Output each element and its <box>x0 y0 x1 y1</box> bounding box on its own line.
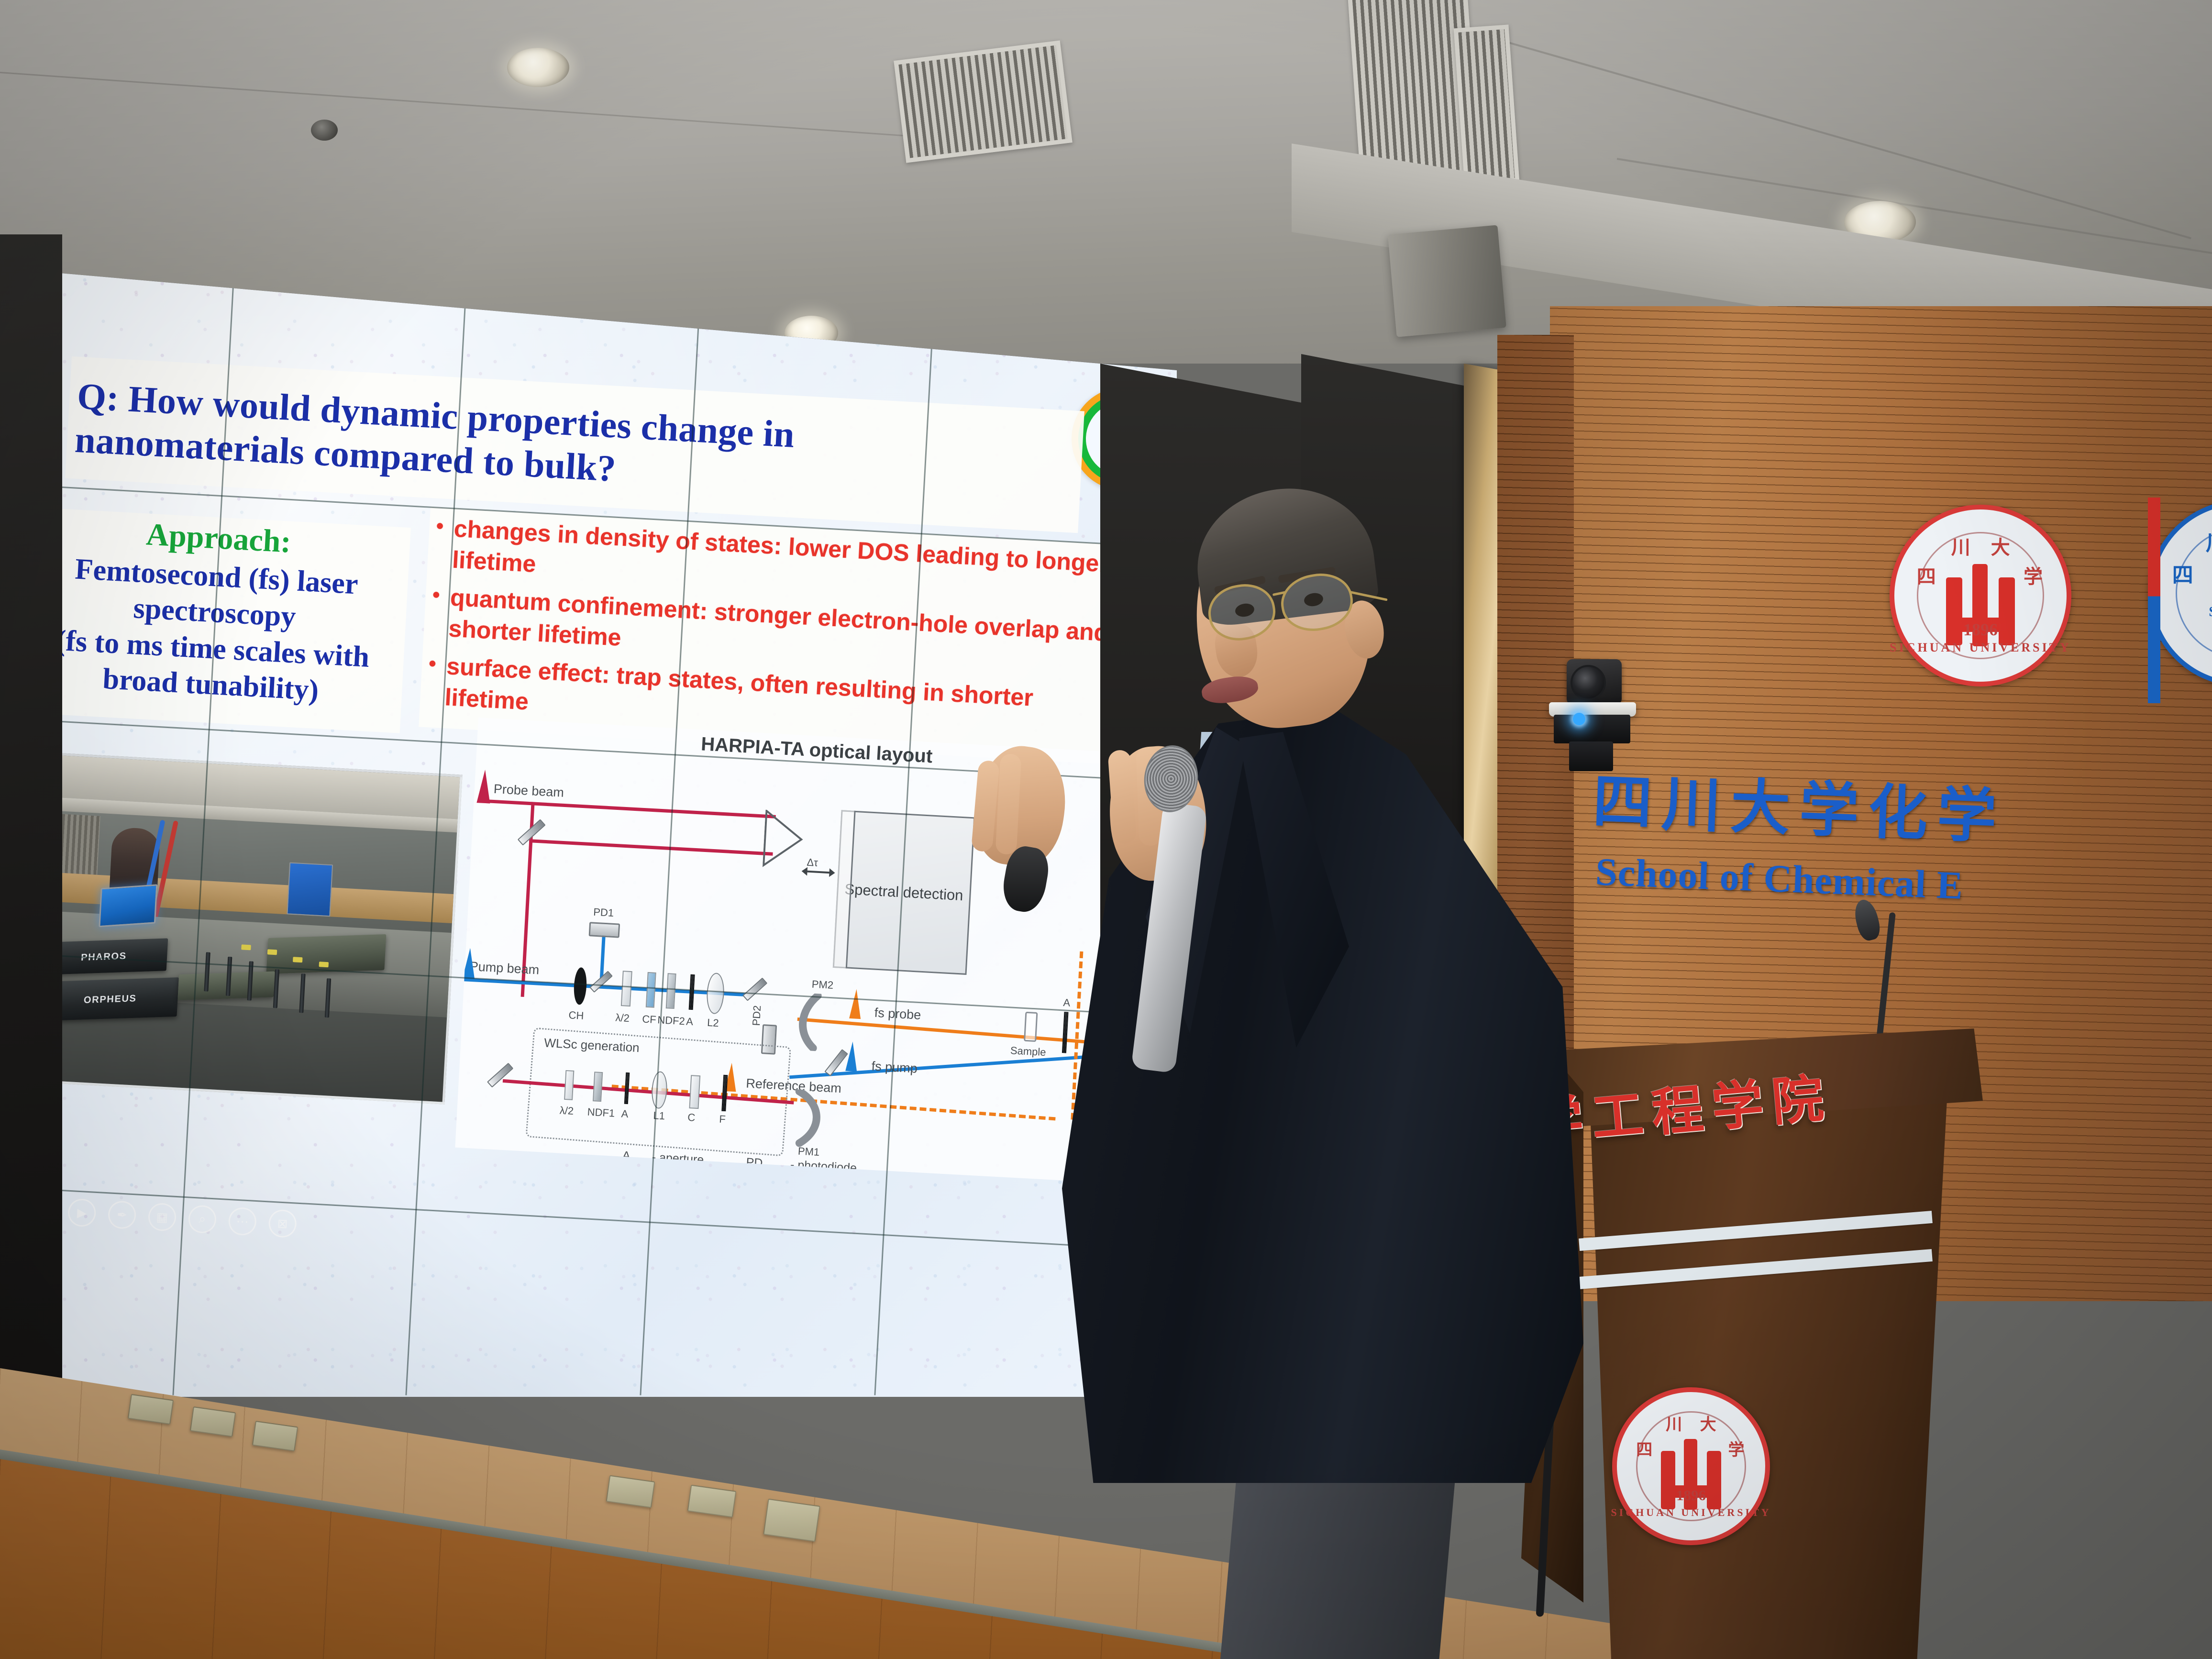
bullet-marker: • <box>431 581 441 610</box>
podium-seal-glyph-da: 大 <box>1700 1411 1716 1435</box>
seal-name-en: SICHUAN UNIVERSITY <box>1890 641 2071 655</box>
pm1-label: PM1 <box>797 1145 820 1158</box>
fs-probe-label: fs probe <box>874 1006 921 1023</box>
wall-divider-strip <box>2148 498 2160 703</box>
pump-fold-mirror-2 <box>742 977 767 1001</box>
pen-tool-icon[interactable]: ✒ <box>108 1200 137 1229</box>
sample-cuvette <box>1024 1012 1038 1042</box>
pd2-label: PD2 <box>750 1005 763 1026</box>
pm2-parabolic-mirror <box>793 993 829 1052</box>
halfwave-plate <box>621 971 632 1006</box>
cf-label: CF <box>642 1013 657 1026</box>
bullet-marker: • <box>428 650 437 678</box>
probe-beam-line <box>479 799 775 818</box>
floor-outlet <box>763 1499 820 1542</box>
fs-pump-label: fs pump <box>871 1059 918 1076</box>
seal-glyph-da: 大 <box>1991 532 2010 560</box>
next-slide-icon[interactable]: ▶ <box>67 1198 97 1228</box>
legend-column-right: PD- photodiode PM- parabolic mirror NDF-… <box>741 1156 940 1184</box>
legend-abbr: PD <box>746 1156 778 1172</box>
legend-abbr: A <box>622 1149 640 1164</box>
legend-abbr: PM <box>745 1172 777 1184</box>
school-seal-name-en: School of <box>2209 604 2212 620</box>
orpheus-label: ORPHEUS <box>83 994 137 1006</box>
fs-probe-pulse-icon <box>849 989 862 1019</box>
optic-knob <box>319 962 329 967</box>
ceiling-air-vent <box>1454 24 1520 186</box>
fs-pump-pulse-icon <box>845 1041 858 1072</box>
wlsc-halfwave-label: λ/2 <box>559 1104 574 1117</box>
wlsc-fold-mirror <box>487 1063 513 1088</box>
l2-label: L2 <box>707 1017 719 1029</box>
camera-mount <box>1569 741 1613 771</box>
probe-beam-label: Probe beam <box>493 782 564 800</box>
seal-glyph-xue: 学 <box>2024 561 2043 589</box>
lens-l2 <box>706 973 725 1015</box>
pump-pulse-icon <box>462 948 476 980</box>
sichuan-university-seal: 1896 SICHUAN UNIVERSITY 四 川 大 学 <box>1890 505 2071 686</box>
ndf2-filter <box>666 973 676 1009</box>
all-slides-icon[interactable]: ▦ <box>147 1203 177 1232</box>
legend-desc: - spectral filter <box>650 1183 725 1184</box>
seal-glyph-si: 四 <box>1917 561 1936 589</box>
probe-beam-return <box>529 839 773 856</box>
delay-label: Δτ <box>807 856 818 869</box>
podium-seal-name-en: SICHUAN UNIVERSITY <box>1611 1506 1771 1519</box>
podium-seal-glyph-si: 四 <box>1636 1437 1652 1460</box>
podium-seal-glyph-chuan: 川 <box>1666 1411 1682 1435</box>
ceiling-downlight <box>507 48 569 87</box>
fs-probe-beam <box>797 1018 1103 1045</box>
crystal <box>689 1075 700 1109</box>
aperture-label: A <box>686 1015 694 1028</box>
more-options-icon[interactable]: ⋯ <box>228 1207 257 1236</box>
legend-desc: - aperture <box>652 1150 727 1168</box>
spectral-detection-label: Spectral detection <box>844 880 964 905</box>
pm2-label: PM2 <box>811 978 834 992</box>
school-seal-glyph-si: 四 <box>2172 558 2193 588</box>
wall-title-cn: 四川大学化学 <box>1592 752 2008 854</box>
optic-knob <box>267 949 277 955</box>
ceiling-air-vent <box>894 40 1073 163</box>
delay-arrow-right <box>829 868 835 877</box>
slide-title-box: Q: How would dynamic properties change i… <box>65 356 1084 533</box>
legend-abbr: C <box>621 1165 639 1180</box>
lab-laptop <box>99 885 157 928</box>
seal-year: 1896 <box>1963 619 1998 640</box>
aperture-after-sample <box>1062 1012 1069 1053</box>
ndf1-filter <box>593 1072 603 1102</box>
halfwave-label: λ/2 <box>615 1011 630 1025</box>
school-seal-glyph-chuan: 川 <box>2206 526 2212 556</box>
legend-desc: - parabolic mirror <box>789 1174 939 1184</box>
chopper-label: CH <box>568 1009 584 1022</box>
seal-glyph-chuan: 川 <box>1951 532 1970 560</box>
podium-seal-glyph-xue: 学 <box>1728 1437 1745 1460</box>
bullet-marker: • <box>435 512 444 541</box>
end-show-icon[interactable]: ⊠ <box>268 1209 297 1238</box>
camera-body <box>1554 715 1630 743</box>
legend-column-left: A- aperture C- crystal CF- spectral filt… <box>618 1149 728 1184</box>
screenshot-root: 1896 SICHUAN UNIVERSITY 四 川 大 学 School o… <box>0 0 2212 1659</box>
optic-knob <box>293 957 303 963</box>
wall-speaker <box>1388 225 1506 337</box>
delay-retroreflector <box>763 810 808 870</box>
ndf1-label: NDF1 <box>587 1106 615 1120</box>
pm1-parabolic-mirror <box>790 1089 833 1149</box>
smoke-detector-icon <box>311 120 338 141</box>
chopper-wheel <box>573 967 587 1005</box>
wlsc-aperture-label: A <box>621 1107 629 1120</box>
pd1-photodiode <box>589 922 620 938</box>
aperture-after-sample-label: A <box>1063 996 1071 1009</box>
podium <box>1574 1076 1947 1659</box>
probe-pulse-icon <box>476 769 492 803</box>
podium-seal-year: 1896 <box>1676 1487 1706 1504</box>
wlsc-filter-label: F <box>719 1113 726 1126</box>
camera-lens-icon <box>1571 665 1606 700</box>
crystal-label: C <box>687 1111 696 1124</box>
wlsc-halfwave-plate <box>564 1070 574 1100</box>
lab-monitor <box>287 863 333 917</box>
camera-power-led <box>1573 713 1585 725</box>
sample-label: Sample <box>1010 1044 1046 1059</box>
powerpoint-presenter-toolbar[interactable]: ◀ ▶ ✒ ▦ ⌕ ⋯ ⊠ <box>27 1196 297 1238</box>
podium-sichuan-seal: 1896 SICHUAN UNIVERSITY 四 川 大 学 <box>1612 1387 1770 1545</box>
delay-arrow-left <box>801 867 807 876</box>
zoom-slide-icon[interactable]: ⌕ <box>188 1205 217 1234</box>
legend-abbr: CF <box>620 1182 638 1184</box>
optic-knob <box>241 944 251 950</box>
pump-beam-label: Pump beam <box>469 959 540 978</box>
spectral-filter <box>646 972 656 1008</box>
delay-arrow-shaft <box>806 870 830 874</box>
pd1-label: PD1 <box>593 906 614 919</box>
laboratory-photo: PHAROS ORPHEUS <box>5 751 463 1105</box>
legend-desc: - photodiode <box>790 1158 939 1180</box>
legend-desc: - crystal <box>651 1167 726 1184</box>
video-wall-left-bezel <box>0 234 62 1392</box>
